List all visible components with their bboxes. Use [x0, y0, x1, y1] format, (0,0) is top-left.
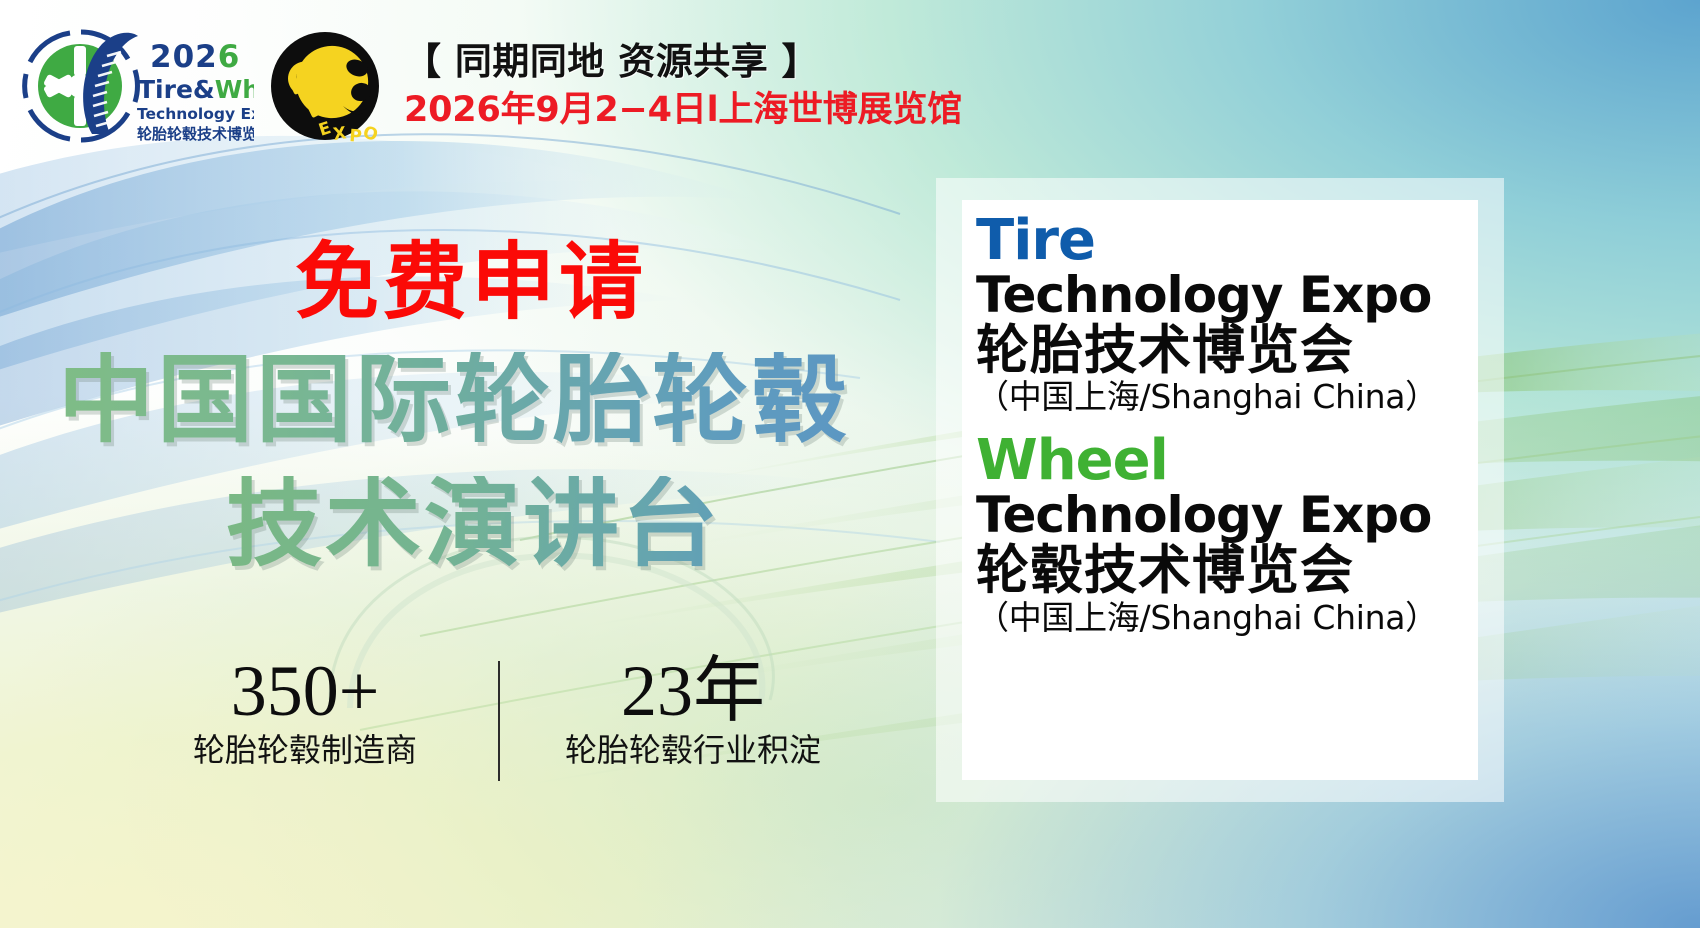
stats-row: 350+ 轮胎轮毂制造商 23年 轮胎轮毂行业积淀: [140, 655, 860, 781]
svg-text:Tire&Wheel: Tire&Wheel: [138, 75, 254, 104]
header-text-group: 【 同期同地 资源共享 】 2026年9月2−4日l上海世博展览馆: [404, 42, 962, 129]
brand-english-wheel: Technology Expo: [976, 489, 1478, 542]
brand-chinese-wheel: 轮毂技术博览会: [976, 542, 1478, 599]
stat-number: 350+: [140, 655, 470, 727]
main-headline: 中国国际轮胎轮毂 技术演讲台: [58, 352, 938, 572]
svg-text:Technology Expo: Technology Expo: [137, 105, 254, 123]
header-date-venue: 2026年9月2−4日l上海世博展览馆: [404, 91, 962, 130]
brand-chinese-tire: 轮胎技术博览会: [976, 322, 1478, 379]
stat-number: 23年: [528, 655, 858, 727]
cti-expo-logo-icon: E X P O: [265, 30, 385, 148]
svg-text:X: X: [332, 123, 348, 145]
brand-block-tire: Tire Technology Expo 轮胎技术博览会 （中国上海/Shang…: [962, 212, 1478, 416]
header-tagline: 【 同期同地 资源共享 】: [404, 42, 962, 83]
cti-expo-logo: E X P O: [265, 30, 385, 148]
brand-location-wheel: （中国上海/Shanghai China）: [976, 600, 1478, 637]
poster-header: 2026 Tire&Wheel Technology Expo 轮胎轮毂技术博览…: [0, 0, 1700, 170]
poster-canvas: 2026 Tire&Wheel Technology Expo 轮胎轮毂技术博览…: [0, 0, 1700, 928]
svg-text:轮胎轮毂技术博览会: 轮胎轮毂技术博览会: [137, 125, 254, 143]
stat-item-manufacturers: 350+ 轮胎轮毂制造商: [140, 655, 470, 768]
headline-line-2: 技术演讲台: [226, 476, 938, 572]
tire-wheel-logo-icon: 2026 Tire&Wheel Technology Expo 轮胎轮毂技术博览…: [18, 22, 254, 150]
stats-divider: [498, 661, 500, 781]
svg-text:O: O: [361, 123, 380, 146]
tire-wheel-logo: 2026 Tire&Wheel Technology Expo 轮胎轮毂技术博览…: [18, 22, 254, 150]
brand-word-tire: Tire: [976, 212, 1478, 269]
stat-label: 轮胎轮毂行业积淀: [528, 733, 858, 768]
brand-block-wheel: Wheel Technology Expo 轮毂技术博览会 （中国上海/Shan…: [962, 432, 1478, 636]
headline-line-1: 中国国际轮胎轮毂: [58, 352, 938, 448]
brand-panel: Tire Technology Expo 轮胎技术博览会 （中国上海/Shang…: [962, 200, 1478, 780]
brand-location-tire: （中国上海/Shanghai China）: [976, 379, 1478, 416]
free-apply-badge[interactable]: 免费申请: [295, 240, 647, 324]
stat-label: 轮胎轮毂制造商: [140, 733, 470, 768]
brand-word-wheel: Wheel: [976, 432, 1478, 489]
stat-item-years: 23年 轮胎轮毂行业积淀: [528, 655, 858, 768]
brand-english-tire: Technology Expo: [976, 269, 1478, 322]
svg-text:2026: 2026: [150, 39, 240, 75]
svg-text:P: P: [349, 126, 363, 147]
